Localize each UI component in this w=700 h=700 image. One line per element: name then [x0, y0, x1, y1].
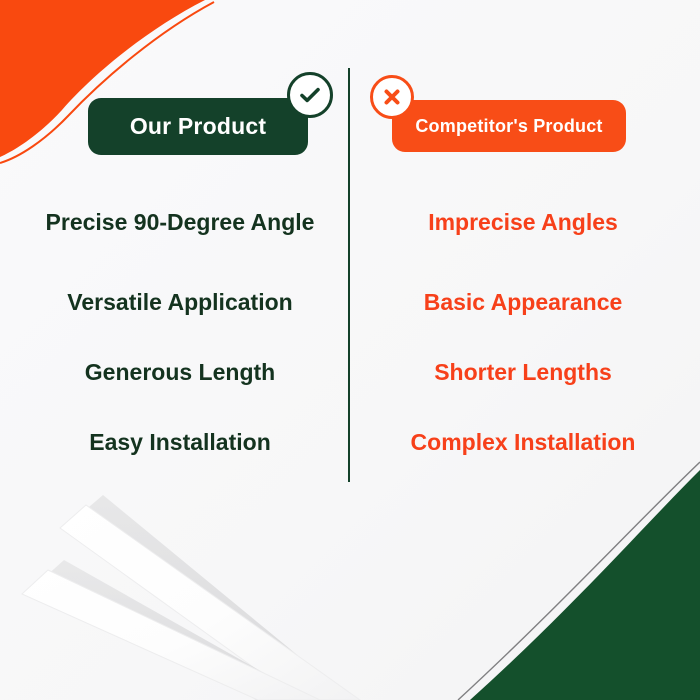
- feature-item: Complex Installation: [358, 408, 688, 478]
- feature-item: Shorter Lengths: [358, 338, 688, 408]
- competitor-product-badge[interactable]: Competitor's Product: [392, 100, 626, 152]
- check-mark-icon: [297, 82, 323, 108]
- product-photo-strips: [22, 495, 360, 700]
- our-product-badge[interactable]: Our Product: [88, 98, 308, 155]
- feature-item: Precise 90-Degree Angle: [20, 178, 340, 268]
- feature-item: Basic Appearance: [358, 268, 688, 338]
- feature-item: Generous Length: [20, 338, 340, 408]
- feature-item: Imprecise Angles: [358, 178, 688, 268]
- competitor-feature-list: Imprecise Angles Basic Appearance Shorte…: [358, 178, 688, 478]
- check-circle-icon: [287, 72, 333, 118]
- x-mark-icon: [380, 85, 404, 109]
- our-product-feature-list: Precise 90-Degree Angle Versatile Applic…: [20, 178, 340, 478]
- cross-circle-icon: [370, 75, 414, 119]
- feature-item: Easy Installation: [20, 408, 340, 478]
- comparison-graphic: Our Product Competitor's Product Precise…: [0, 0, 700, 700]
- comparison-table: Our Product Competitor's Product Precise…: [0, 0, 700, 500]
- feature-item: Versatile Application: [20, 268, 340, 338]
- column-divider: [348, 68, 350, 482]
